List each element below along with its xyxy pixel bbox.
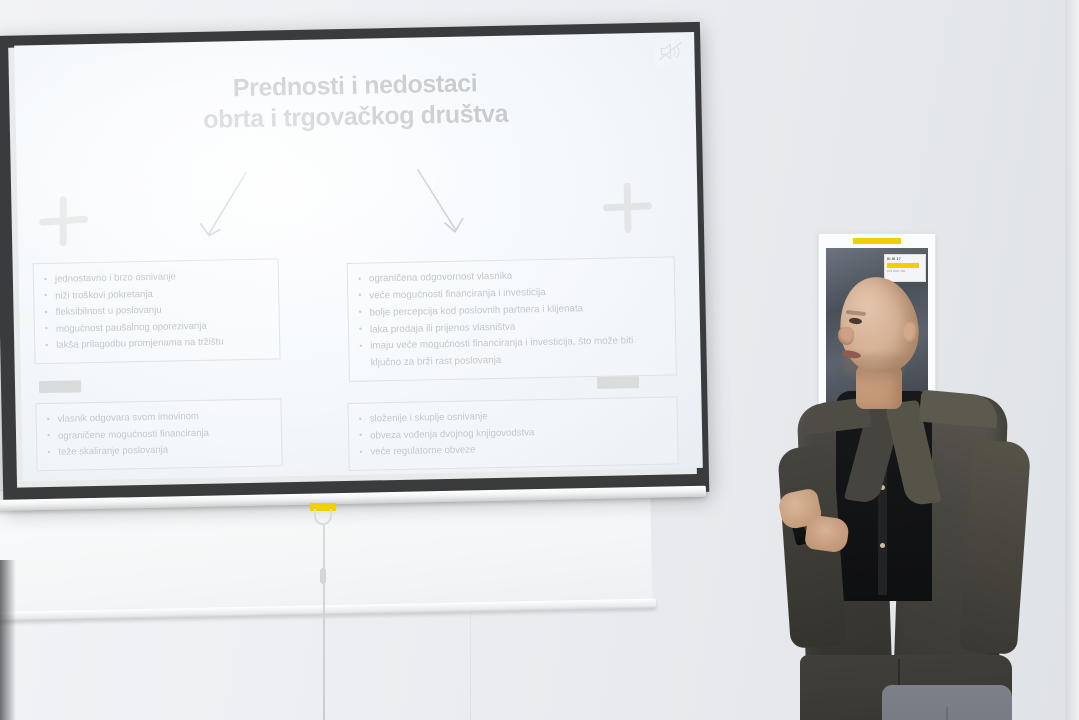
minus-marker-right-icon — [597, 376, 639, 389]
minus-marker-left-icon — [39, 380, 81, 393]
bullet-box-drustvo-prednosti: ograničena odgovornost vlasnika veće mog… — [347, 256, 677, 382]
jaw-shadow — [844, 355, 904, 381]
nose — [838, 327, 854, 345]
list-item: teže skaliranje poslovanja — [45, 441, 271, 462]
shoulder-right — [919, 390, 999, 429]
plus-marker-left-icon — [37, 194, 90, 247]
panel-yellow-strip — [853, 238, 901, 244]
hand-right — [804, 514, 850, 554]
speaker-muted-icon — [654, 36, 689, 67]
slide-title: Prednosti i nedostaci obrta i trgovačkog… — [15, 64, 696, 139]
presenter — [770, 255, 1079, 720]
corner-shadow — [0, 560, 16, 720]
projector-screen: Prednosti i nedostaci obrta i trgovačkog… — [0, 22, 709, 506]
plus-marker-right-icon — [601, 181, 654, 234]
bullet-box-obrt-prednosti: jednostavno i brzo osnivanje niži troško… — [33, 258, 281, 363]
list-item: imaju veće mogućnosti financiranja i inv… — [357, 333, 666, 373]
list-item: lakša prilagodbu promjenama na tržištu — [43, 334, 269, 355]
ear — [903, 321, 918, 342]
room-scene: Prednosti i nedostaci obrta i trgovačkog… — [0, 0, 1079, 720]
shirt-button — [880, 543, 885, 548]
screen-cord-grip[interactable] — [320, 568, 326, 584]
bullet-box-drustvo-nedostaci: složenije i skuplje osnivanje obveza vođ… — [347, 396, 678, 470]
screen-pull-cord[interactable] — [323, 524, 325, 720]
arrow-left-icon — [192, 171, 254, 250]
bullet-box-obrt-nedostaci: vlasnik odgovara svom imovinom ograničen… — [35, 398, 282, 470]
trouser-seam — [946, 707, 948, 720]
projected-slide: Prednosti i nedostaci obrta i trgovačkog… — [14, 32, 703, 482]
wall-seam — [470, 600, 471, 720]
arrow-right-icon — [412, 166, 474, 245]
